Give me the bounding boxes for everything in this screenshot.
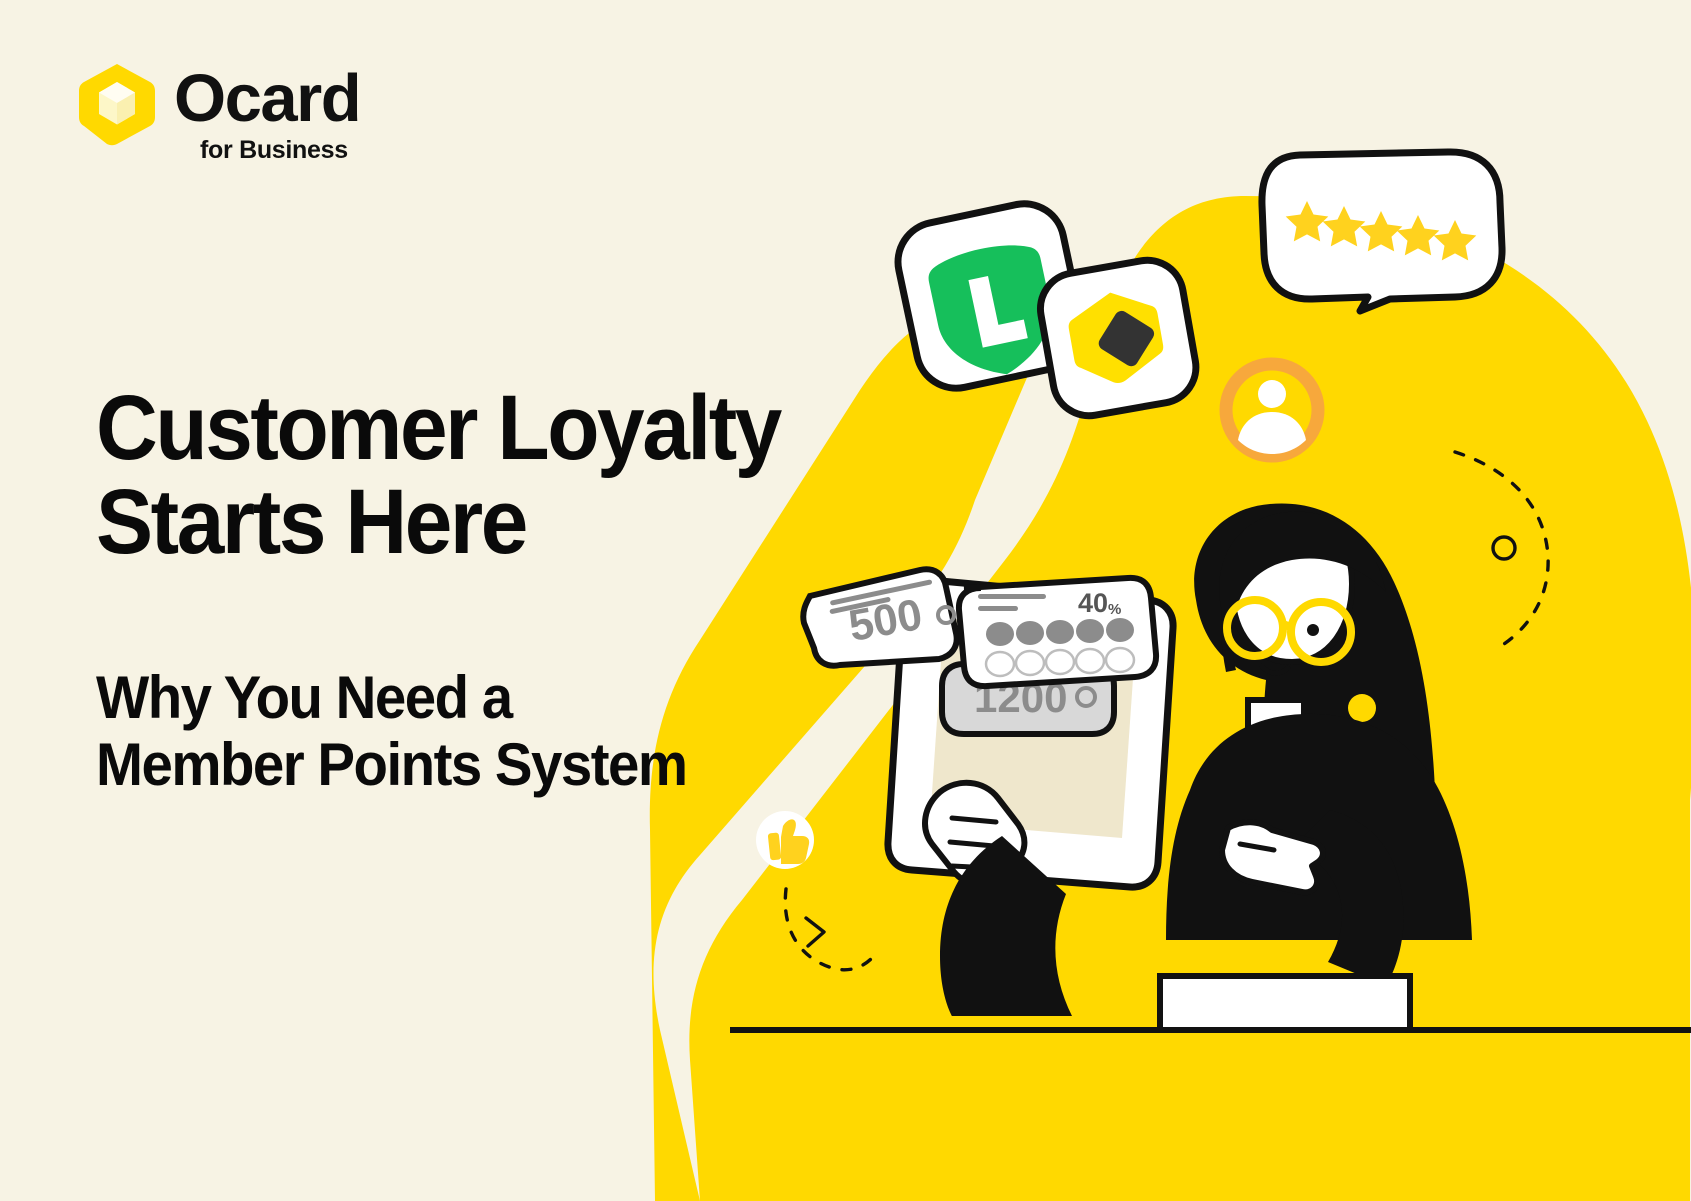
hexagon-cube-icon	[78, 62, 156, 146]
headline-line-2: Starts Here	[96, 471, 526, 573]
brand-tagline: for Business	[200, 136, 360, 165]
brand-logo-text: Ocard for Business	[174, 62, 360, 165]
banner-canvas: Ocard for Business Customer Loyalty Star…	[0, 0, 1691, 1201]
brand-name: Ocard	[174, 66, 360, 132]
page-title: Customer Loyalty Starts Here	[96, 382, 859, 570]
subhead-line-1: Why You Need a	[96, 664, 512, 731]
headline-line-1: Customer Loyalty	[96, 377, 780, 479]
copy-block: Customer Loyalty Starts Here Why You Nee…	[96, 382, 916, 798]
page-subtitle: Why You Need a Member Points System	[96, 570, 867, 798]
brand-logo[interactable]: Ocard for Business	[78, 62, 360, 165]
subhead-line-2: Member Points System	[96, 731, 687, 798]
